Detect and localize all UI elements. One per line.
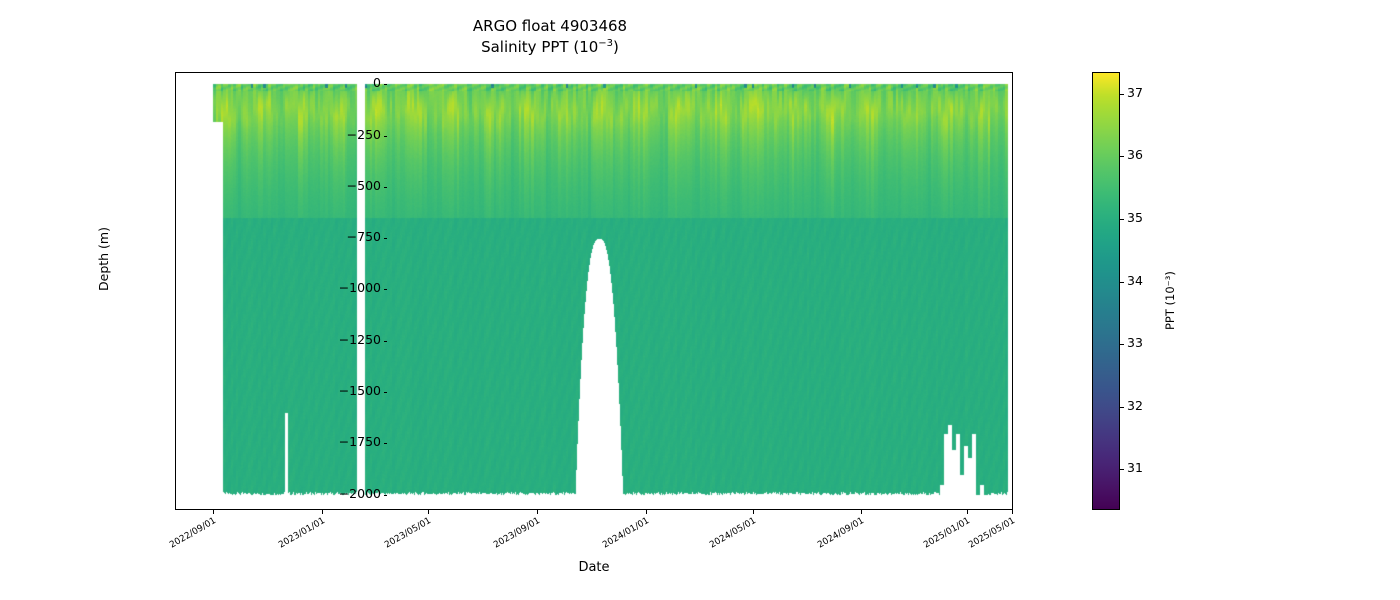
- figure-title: ARGO float 4903468 Salinity PPT (10−3): [0, 16, 1100, 57]
- y-tick-label: −1750: [339, 434, 381, 449]
- colorbar-tick-mark: [1120, 219, 1124, 220]
- x-tick-mark: [537, 510, 538, 514]
- colorbar-tick-mark: [1120, 282, 1124, 283]
- y-tick-label: −250: [347, 127, 381, 142]
- y-tick-mark: [384, 443, 388, 444]
- title-main: ARGO float 4903468: [0, 16, 1100, 37]
- y-tick-label: 0: [373, 75, 381, 90]
- y-tick-mark: [384, 289, 388, 290]
- title-subtitle-text: Salinity PPT (10: [481, 38, 598, 56]
- y-tick-mark: [384, 238, 388, 239]
- colorbar-tick-label: 32: [1127, 398, 1143, 413]
- y-tick-mark: [384, 136, 388, 137]
- y-tick-label: −2000: [339, 486, 381, 501]
- title-subtitle: Salinity PPT (10−3): [0, 37, 1100, 58]
- colorbar-tick-mark: [1120, 94, 1124, 95]
- colorbar-tick-mark: [1120, 344, 1124, 345]
- x-tick-mark: [1012, 510, 1013, 514]
- colorbar-gradient: [1092, 72, 1120, 510]
- x-tick-mark: [646, 510, 647, 514]
- colorbar-tick-label: 34: [1127, 273, 1143, 288]
- y-tick-label: −1250: [339, 332, 381, 347]
- y-tick-label: −1500: [339, 383, 381, 398]
- colorbar-tick-mark: [1120, 407, 1124, 408]
- y-tick-mark: [384, 495, 388, 496]
- colorbar-tick-label: 31: [1127, 460, 1143, 475]
- y-tick-label: −500: [347, 178, 381, 193]
- x-tick-mark: [428, 510, 429, 514]
- x-tick-mark: [213, 510, 214, 514]
- y-axis-label: Depth (m): [96, 227, 111, 291]
- x-tick-mark: [753, 510, 754, 514]
- colorbar-tick-label: 33: [1127, 335, 1143, 350]
- colorbar-tick-mark: [1120, 156, 1124, 157]
- plot-axes: [175, 72, 1013, 510]
- colorbar-tick-mark: [1120, 469, 1124, 470]
- y-tick-mark: [384, 341, 388, 342]
- colorbar-tick-label: 37: [1127, 85, 1143, 100]
- colorbar-tick-label: 36: [1127, 147, 1143, 162]
- colorbar: 31323334353637: [1092, 72, 1120, 510]
- title-subtitle-tail: ): [613, 38, 619, 56]
- y-tick-mark: [384, 392, 388, 393]
- salinity-heatmap: [176, 73, 1012, 509]
- colorbar-label: PPT (10⁻³): [1163, 271, 1177, 330]
- y-tick-mark: [384, 84, 388, 85]
- y-tick-mark: [384, 187, 388, 188]
- x-tick-mark: [322, 510, 323, 514]
- colorbar-tick-label: 35: [1127, 210, 1143, 225]
- y-tick-label: −1000: [339, 280, 381, 295]
- x-tick-mark: [861, 510, 862, 514]
- title-subtitle-exponent: −3: [598, 38, 613, 49]
- y-tick-label: −750: [347, 229, 381, 244]
- x-tick-mark: [967, 510, 968, 514]
- figure-canvas: ARGO float 4903468 Salinity PPT (10−3) D…: [0, 0, 1400, 600]
- x-axis-label: Date: [175, 560, 1013, 575]
